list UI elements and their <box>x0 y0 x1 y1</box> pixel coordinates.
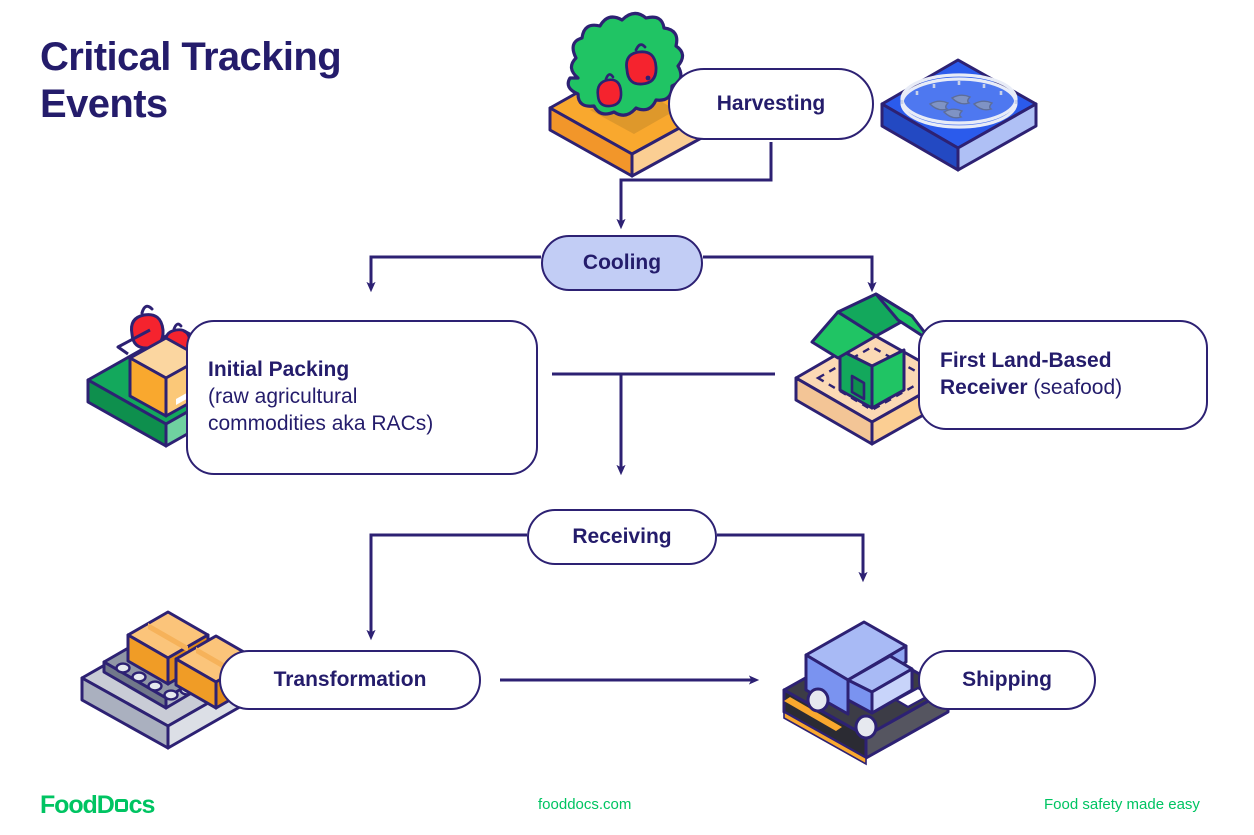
logo-text-oo: oo <box>54 791 82 820</box>
node-first-land-based-receiver-qualifier: (seafood) <box>1028 376 1123 399</box>
node-initial-packing-subtitle-line1: (raw agricultural <box>208 385 357 408</box>
node-initial-packing-subtitle-line2: commodities aka RACs) <box>208 412 433 435</box>
diagram-canvas: Critical Tracking Events <box>0 0 1254 835</box>
node-first-land-based-receiver-line1: First Land-Based <box>940 349 1112 372</box>
node-cooling[interactable]: Cooling <box>541 235 703 291</box>
node-first-land-based-receiver-line2: Receiver <box>940 376 1028 399</box>
logo-text-d2: D <box>97 791 114 820</box>
node-initial-packing-title: Initial Packing <box>208 358 349 381</box>
aquaculture-fish-pen-icon <box>882 60 1036 170</box>
connector-cooling-to-initial-packing <box>371 257 541 287</box>
footer-tagline: Food safety made easy <box>1044 796 1200 813</box>
logo-square-o-icon <box>115 799 128 812</box>
connector-receiving-to-transformation <box>371 535 527 635</box>
node-receiving-label: Receiving <box>556 524 687 551</box>
node-transformation-label: Transformation <box>258 667 443 694</box>
node-harvesting[interactable]: Harvesting <box>668 68 874 140</box>
node-receiving[interactable]: Receiving <box>527 509 717 565</box>
node-shipping-label: Shipping <box>946 667 1068 694</box>
connector-cooling-to-first-land-based-receiver <box>703 257 872 287</box>
logo-text-d1: d <box>83 791 97 820</box>
node-initial-packing[interactable]: Initial Packing (raw agricultural commod… <box>186 320 538 475</box>
node-transformation[interactable]: Transformation <box>219 650 481 710</box>
node-first-land-based-receiver[interactable]: First Land-Based Receiver (seafood) <box>918 320 1208 430</box>
node-shipping[interactable]: Shipping <box>918 650 1096 710</box>
logo-text-cs: cs <box>129 791 155 820</box>
logo-text-food: F <box>40 791 54 820</box>
node-harvesting-label: Harvesting <box>701 91 842 118</box>
node-cooling-label: Cooling <box>567 250 677 277</box>
connector-receiving-to-shipping <box>717 535 863 577</box>
footer-website[interactable]: fooddocs.com <box>538 796 631 813</box>
fooddocs-logo[interactable]: FoodDcs <box>40 791 154 820</box>
